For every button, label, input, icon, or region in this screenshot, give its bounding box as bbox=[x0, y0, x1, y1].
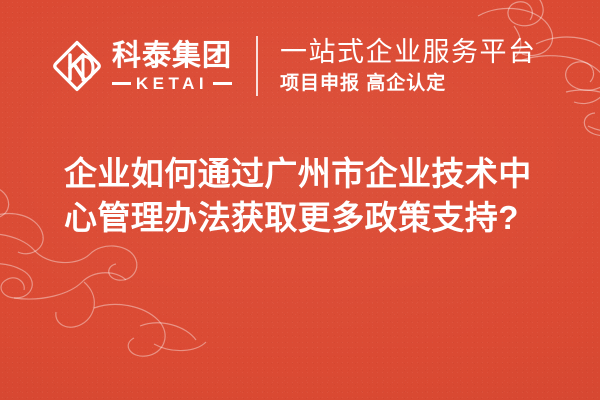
tagline-secondary: 项目申报 高企认定 bbox=[280, 72, 537, 96]
wordmark-rule-right bbox=[213, 82, 232, 85]
brand-logo: 科泰集团 KETAI bbox=[52, 40, 232, 92]
banner-header: 科泰集团 KETAI 一站式企业服务平台 项目申报 高企认定 bbox=[52, 36, 537, 96]
promo-banner: 科泰集团 KETAI 一站式企业服务平台 项目申报 高企认定 企业如何通过广州市… bbox=[0, 0, 600, 400]
wordmark-rule-left bbox=[112, 82, 131, 85]
brand-name-cn: 科泰集团 bbox=[112, 40, 232, 72]
ketai-diamond-monogram-icon bbox=[52, 40, 102, 92]
banner-headline: 企业如何通过广州市企业技术中心管理办法获取更多政策支持? bbox=[64, 152, 564, 240]
brand-wordmark: 科泰集团 KETAI bbox=[112, 40, 232, 92]
header-divider bbox=[256, 36, 258, 96]
tagline-block: 一站式企业服务平台 项目申报 高企认定 bbox=[280, 36, 537, 96]
brand-name-en: KETAI bbox=[131, 75, 213, 92]
brand-name-en-row: KETAI bbox=[112, 75, 232, 92]
tagline-primary: 一站式企业服务平台 bbox=[280, 36, 537, 69]
